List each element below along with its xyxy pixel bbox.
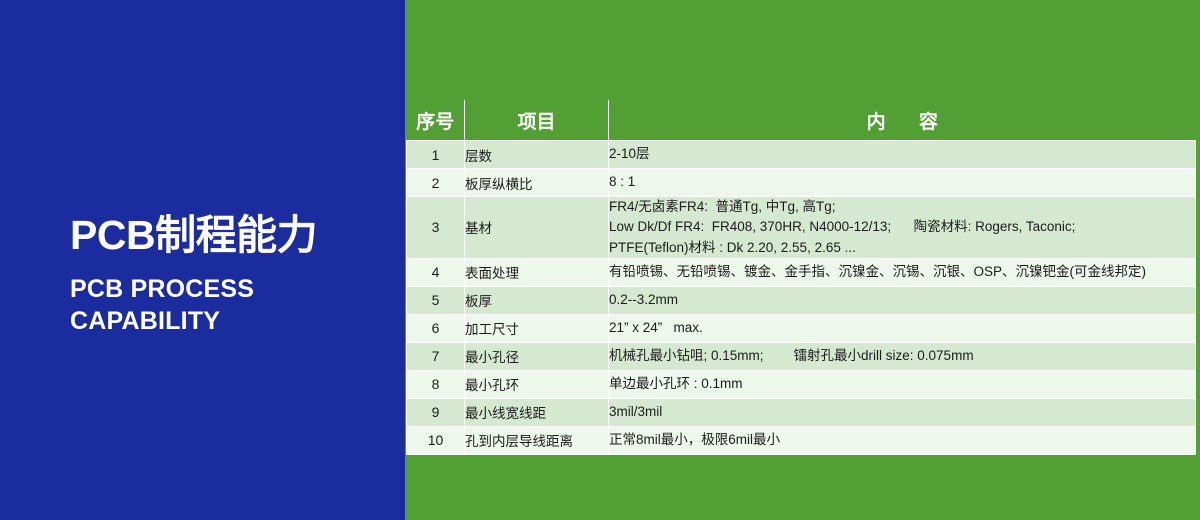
- column-header-content: 内 容: [609, 100, 1196, 141]
- pcb-capability-table: 序号 项目 内 容 1层数2-10层2板厚纵横比8 : 13基材FR4/无卤素F…: [406, 100, 1196, 455]
- cell-content: 2-10层: [609, 141, 1196, 169]
- column-header-item: 项目: [465, 100, 609, 141]
- cell-content: 0.2--3.2mm: [609, 286, 1196, 314]
- cell-item: 孔到内层导线距离: [465, 426, 609, 454]
- cell-no: 4: [407, 258, 465, 286]
- cell-content: 机械孔最小钻咀; 0.15mm; 镭射孔最小drill size: 0.075m…: [609, 342, 1196, 370]
- slide-root: PCB制程能力 PCB PROCESS CAPABILITY 序号 项目 内 容: [0, 0, 1200, 520]
- cell-no: 9: [407, 398, 465, 426]
- table-row: 6加工尺寸21” x 24” max.: [407, 314, 1196, 342]
- cell-item: 层数: [465, 141, 609, 169]
- spec-table-wrap: 序号 项目 内 容 1层数2-10层2板厚纵横比8 : 13基材FR4/无卤素F…: [406, 100, 1195, 445]
- column-header-no: 序号: [407, 100, 465, 141]
- table-row: 5板厚0.2--3.2mm: [407, 286, 1196, 314]
- cell-content: 单边最小孔环 : 0.1mm: [609, 370, 1196, 398]
- table-head: 序号 项目 内 容: [407, 100, 1196, 141]
- table-row: 7最小孔径机械孔最小钻咀; 0.15mm; 镭射孔最小drill size: 0…: [407, 342, 1196, 370]
- cell-content-line: 8 : 1: [609, 172, 1195, 192]
- cell-content-line: 3mil/3mil: [609, 402, 1195, 422]
- cell-item: 最小孔环: [465, 370, 609, 398]
- page-subtitle: PCB PROCESS CAPABILITY: [70, 273, 390, 337]
- cell-content: 正常8mil最小，极限6mil最小: [609, 426, 1196, 454]
- cell-content: 3mil/3mil: [609, 398, 1196, 426]
- cell-content-line: 有铅喷锡、无铅喷锡、镀金、金手指、沉镍金、沉锡、沉银、OSP、沉镍钯金(可金线邦…: [609, 262, 1195, 282]
- cell-item: 表面处理: [465, 258, 609, 286]
- table-row: 3基材FR4/无卤素FR4: 普通Tg, 中Tg, 高Tg;Low Dk/Df …: [407, 197, 1196, 259]
- cell-no: 3: [407, 197, 465, 259]
- cell-content-line: 单边最小孔环 : 0.1mm: [609, 374, 1195, 394]
- cell-content: 21” x 24” max.: [609, 314, 1196, 342]
- cell-content-line: 0.2--3.2mm: [609, 290, 1195, 310]
- cell-content-line: FR4/无卤素FR4: 普通Tg, 中Tg, 高Tg;: [609, 197, 1195, 217]
- cell-content-line: Low Dk/Df FR4: FR408, 370HR, N4000-12/13…: [609, 217, 1195, 237]
- table-row: 8最小孔环单边最小孔环 : 0.1mm: [407, 370, 1196, 398]
- cell-content: FR4/无卤素FR4: 普通Tg, 中Tg, 高Tg;Low Dk/Df FR4…: [609, 197, 1196, 259]
- column-header-content-label: 内 容: [853, 107, 952, 134]
- page-title: PCB制程能力: [70, 213, 390, 259]
- table-row: 2板厚纵横比8 : 1: [407, 169, 1196, 197]
- cell-item: 最小线宽线距: [465, 398, 609, 426]
- table-header-row: 序号 项目 内 容: [407, 100, 1196, 141]
- cell-item: 板厚: [465, 286, 609, 314]
- table-body: 1层数2-10层2板厚纵横比8 : 13基材FR4/无卤素FR4: 普通Tg, …: [407, 141, 1196, 455]
- cell-no: 8: [407, 370, 465, 398]
- title-block: PCB制程能力 PCB PROCESS CAPABILITY: [70, 213, 390, 337]
- table-row: 9最小线宽线距3mil/3mil: [407, 398, 1196, 426]
- table-row: 4表面处理有铅喷锡、无铅喷锡、镀金、金手指、沉镍金、沉锡、沉银、OSP、沉镍钯金…: [407, 258, 1196, 286]
- cell-content-line: 21” x 24” max.: [609, 318, 1195, 338]
- cell-item: 基材: [465, 197, 609, 259]
- cell-no: 6: [407, 314, 465, 342]
- cell-content: 8 : 1: [609, 169, 1196, 197]
- cell-item: 最小孔径: [465, 342, 609, 370]
- cell-no: 2: [407, 169, 465, 197]
- cell-content: 有铅喷锡、无铅喷锡、镀金、金手指、沉镍金、沉锡、沉银、OSP、沉镍钯金(可金线邦…: [609, 258, 1196, 286]
- cell-content-line: 2-10层: [609, 144, 1195, 164]
- left-blue-panel: PCB制程能力 PCB PROCESS CAPABILITY: [0, 0, 405, 520]
- cell-no: 1: [407, 141, 465, 169]
- cell-no: 7: [407, 342, 465, 370]
- cell-item: 加工尺寸: [465, 314, 609, 342]
- cell-content-line: 正常8mil最小，极限6mil最小: [609, 430, 1195, 450]
- page-subtitle-line2: CAPABILITY: [70, 305, 390, 337]
- table-row: 10孔到内层导线距离正常8mil最小，极限6mil最小: [407, 426, 1196, 454]
- cell-no: 10: [407, 426, 465, 454]
- page-subtitle-line1: PCB PROCESS: [70, 273, 390, 305]
- cell-content-line: 机械孔最小钻咀; 0.15mm; 镭射孔最小drill size: 0.075m…: [609, 346, 1195, 366]
- cell-no: 5: [407, 286, 465, 314]
- table-row: 1层数2-10层: [407, 141, 1196, 169]
- cell-item: 板厚纵横比: [465, 169, 609, 197]
- cell-content-line: PTFE(Teflon)材料 : Dk 2.20, 2.55, 2.65 ...: [609, 238, 1195, 258]
